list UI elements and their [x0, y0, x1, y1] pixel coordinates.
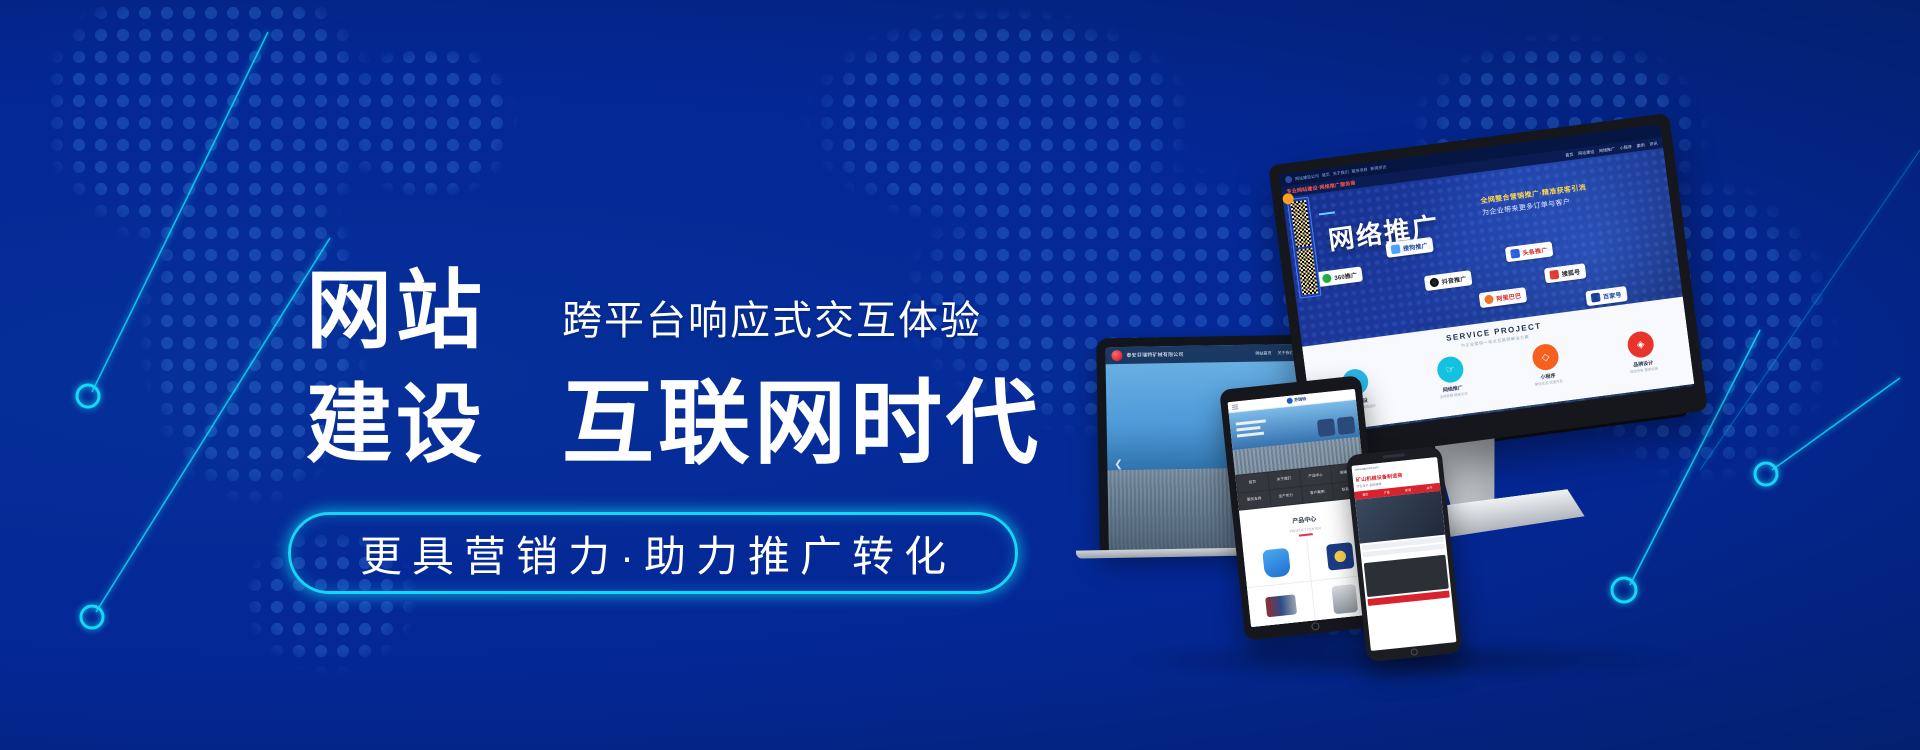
- tablet-home-button[interactable]: [1311, 622, 1320, 631]
- monitor-topbar-brand: 网站建设公司: [1295, 173, 1320, 182]
- sogou-icon: [1391, 244, 1401, 254]
- phone-home-button[interactable]: [1410, 648, 1418, 656]
- platform-badge[interactable]: 阿里巴巴: [1479, 287, 1527, 308]
- stat-label: 成功案例: [1572, 422, 1694, 436]
- platform-badge[interactable]: 搜狗推广: [1385, 237, 1433, 258]
- copy-block: 跨平台响应式交互体验 网站 建设 互联网时代 更具营销力·助力推广转化: [0, 0, 1060, 750]
- tablet-logo: 芬瑞特: [1286, 396, 1307, 404]
- product-card[interactable]: [1247, 582, 1315, 627]
- monitor-nav-link[interactable]: 网络推广: [1599, 146, 1616, 154]
- platform-badge[interactable]: 头条推广: [1505, 241, 1553, 262]
- laptop-carousel-prev-icon[interactable]: ❮: [1114, 458, 1123, 469]
- topbar-logo-icon: [1285, 176, 1293, 184]
- platform-badge-label: 搜狗推广: [1402, 241, 1428, 253]
- phone-speaker: [1383, 453, 1405, 458]
- platform-badge-label: 阿里巴巴: [1496, 291, 1522, 303]
- monitor-nav-link[interactable]: 首页: [1565, 151, 1574, 158]
- platform-badge[interactable]: 360推广: [1316, 266, 1363, 287]
- monitor-hero-subtitle-2: 为企业带来更多订单与客户: [1482, 197, 1571, 219]
- topbar-link[interactable]: 新闻资讯: [1370, 164, 1387, 172]
- tagline-pill: 更具营销力·助力推广转化: [288, 512, 1018, 594]
- tagline-text: 更具营销力·助力推广转化: [350, 523, 956, 584]
- tablet-brand: 芬瑞特: [1294, 396, 1307, 403]
- tablet-menu-item[interactable]: 首页: [1236, 473, 1268, 493]
- device-mockup-group: 泰安芬瑞特矿械有限公司 网站首页 关于我们 产品中心 新闻资讯 联系我们 芬瑞特…: [1080, 120, 1760, 680]
- baidu-icon: [1591, 292, 1601, 302]
- tablet-menu-item[interactable]: 服务支持: [1238, 490, 1270, 510]
- service-card[interactable]: ◈ 品牌设计 视觉形象 整体包装: [1603, 327, 1680, 378]
- service-card[interactable]: ☞ 网络推广 全网营销 精准引流: [1413, 352, 1490, 403]
- monitor-nav-link[interactable]: 资讯: [1649, 140, 1658, 147]
- platform-badge-label: 头条推广: [1522, 245, 1548, 257]
- platform-badge[interactable]: 百家号: [1585, 286, 1627, 306]
- qr-code-image: [1296, 248, 1318, 296]
- tablet-section-title: 产品中心: [1292, 517, 1317, 525]
- section-underline: [1299, 533, 1313, 536]
- product-thumb: [1317, 418, 1336, 437]
- topbar-link[interactable]: 服务项目: [1351, 166, 1368, 174]
- qr-code-image: [1290, 200, 1312, 248]
- hamburger-menu-icon[interactable]: [1232, 404, 1238, 410]
- service-card[interactable]: ◇ 小程序 微信生态 快速开发: [1508, 339, 1585, 390]
- headline-line-1: 网站: [306, 268, 486, 354]
- platform-badge[interactable]: 搜狐号: [1544, 263, 1586, 283]
- megaphone-icon: ☞: [1436, 355, 1465, 384]
- platform-badge-label: 抖音推广: [1441, 274, 1467, 286]
- platform-badge[interactable]: 抖音推广: [1424, 270, 1472, 291]
- alibaba-icon: [1484, 294, 1494, 304]
- platform-badge-label: 搜狐号: [1561, 267, 1581, 278]
- tablet-menu-item[interactable]: 客户案例: [1301, 483, 1333, 503]
- topbar-link[interactable]: 首页: [1321, 171, 1330, 178]
- monitor-hero-title: 网络推广: [1326, 206, 1442, 257]
- palette-icon: ◈: [1626, 330, 1655, 359]
- platform-badge-label: 百家号: [1603, 290, 1623, 301]
- monitor-nav-link[interactable]: 案例: [1636, 142, 1645, 149]
- 360-icon: [1322, 273, 1332, 283]
- monitor-nav-link[interactable]: 网站建设: [1578, 149, 1595, 157]
- laptop-nav-link[interactable]: 关于我们: [1277, 350, 1293, 356]
- kicker-text: 跨平台响应式交互体验: [562, 288, 982, 346]
- product-card[interactable]: [1243, 539, 1311, 587]
- tablet-menu-item[interactable]: 生产实力: [1270, 487, 1302, 507]
- product-thumb: [1337, 416, 1356, 435]
- tablet-menu-item[interactable]: 产品中心: [1299, 466, 1331, 486]
- tablet-hero-text-lines: [1236, 419, 1268, 440]
- monitor-nav-link[interactable]: 小程序: [1619, 144, 1632, 152]
- platform-badge-label: 360推广: [1334, 270, 1358, 282]
- douyin-icon: [1429, 277, 1439, 287]
- laptop-logo-icon: [1111, 350, 1122, 361]
- hero-banner: 跨平台响应式交互体验 网站 建设 互联网时代 更具营销力·助力推广转化 泰安芬瑞…: [0, 0, 1920, 750]
- phone-content-block: [1364, 555, 1449, 597]
- tablet-hero-product-thumbs: [1317, 416, 1356, 437]
- tablet-menu-item[interactable]: 关于我们: [1268, 469, 1300, 489]
- toutiao-icon: [1510, 249, 1520, 259]
- topbar-link[interactable]: 关于我们: [1332, 169, 1349, 177]
- sohu-icon: [1549, 270, 1559, 280]
- headline-line-2: 建设: [306, 382, 486, 468]
- phone-screen: www.taian-frt.com 矿山机械设备制造商 专业生产 品质保障 首页…: [1352, 457, 1457, 651]
- hero-accent-bar: [1319, 211, 1335, 215]
- laptop-brand: 泰安芬瑞特矿械有限公司: [1126, 351, 1183, 359]
- laptop-nav-link[interactable]: 网站首页: [1255, 350, 1271, 356]
- app-icon: ◇: [1531, 342, 1560, 371]
- monitor-hero-subtitle-1: 全网整合营销推广·精准获客引流: [1480, 182, 1587, 206]
- headline-accent: 互联网时代: [562, 378, 1042, 470]
- tablet-logo-icon: [1286, 398, 1293, 405]
